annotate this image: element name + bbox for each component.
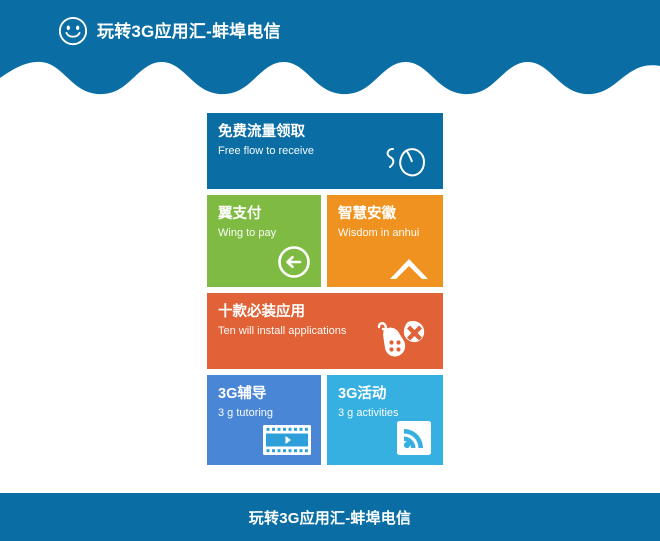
tile-subtitle: 3 g activities [338,406,435,420]
tile-free-flow[interactable]: 免费流量领取 Free flow to receive [207,113,443,189]
tile-subtitle: Wisdom in anhui [338,226,435,240]
page-header: 玩转3G应用汇-蚌埠电信 [0,0,660,100]
filmstrip-play-icon [263,425,311,455]
tile-subtitle: 3 g tutoring [218,406,313,420]
tile-title: 智慧安徽 [338,205,435,223]
tile-title: 3G活动 [338,385,435,403]
chevron-up-icon [387,255,431,281]
tile-text-block: 3G活动 3 g activities [338,385,435,420]
tile-title: 3G辅导 [218,385,313,403]
tile-grid: 免费流量领取 Free flow to receive 翼支付 Wing to … [207,113,443,465]
tile-title: 翼支付 [218,205,313,223]
tile-wing-pay[interactable]: 翼支付 Wing to pay [207,195,321,287]
header-brand: 玩转3G应用汇-蚌埠电信 [58,16,281,46]
mouse-icon [383,141,429,181]
gamepad-icon [377,317,429,361]
page-title: 玩转3G应用汇-蚌埠电信 [97,23,281,40]
tile-3g-activities[interactable]: 3G活动 3 g activities [327,375,443,465]
tile-text-block: 翼支付 Wing to pay [218,205,313,240]
page-footer: 玩转3G应用汇-蚌埠电信 [0,493,660,541]
tile-ten-apps[interactable]: 十款必装应用 Ten will install applications [207,293,443,369]
tile-text-block: 智慧安徽 Wisdom in anhui [338,205,435,240]
tile-title: 免费流量领取 [218,123,435,141]
tile-subtitle: Wing to pay [218,226,313,240]
smiley-icon [58,16,88,46]
tile-3g-tutoring[interactable]: 3G辅导 3 g tutoring [207,375,321,465]
tile-wisdom-anhui[interactable]: 智慧安徽 Wisdom in anhui [327,195,443,287]
footer-title: 玩转3G应用汇-蚌埠电信 [249,507,411,528]
wave-divider [0,0,660,100]
rss-icon [397,421,431,455]
tile-text-block: 3G辅导 3 g tutoring [218,385,313,420]
circle-arrow-left-icon [277,245,311,279]
